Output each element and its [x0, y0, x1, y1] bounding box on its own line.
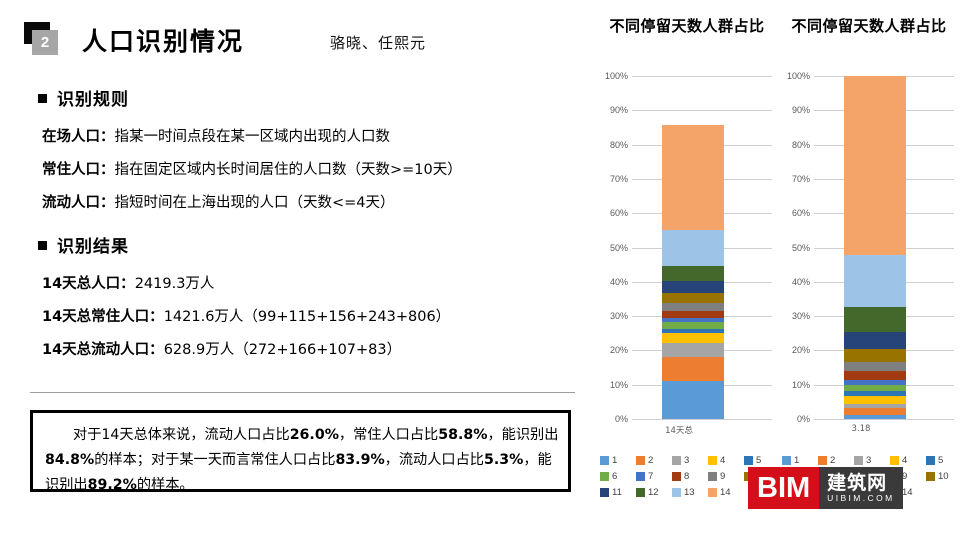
page-title: 人口识别情况 — [82, 22, 244, 58]
rule-row: 流动人口：指短时间在上海出现的人口（天数<=4天） — [42, 191, 395, 212]
result-term: 14天总常住人口： — [42, 309, 164, 325]
legend-swatch-icon — [672, 472, 681, 481]
bar-segment-9 — [662, 303, 724, 311]
bar-segment-9 — [844, 362, 906, 371]
legend-swatch-icon — [636, 488, 645, 497]
legend-label: 13 — [684, 487, 695, 498]
authors-label: 骆晓、任熙元 — [330, 32, 426, 53]
result-term: 14天总流动人口： — [42, 342, 164, 358]
y-axis-tick-label: 30% — [792, 311, 810, 321]
bar-segment-5 — [844, 391, 906, 396]
legend-item-8[interactable]: 8 — [672, 471, 704, 482]
legend-label: 14 — [720, 487, 731, 498]
legend-item-1[interactable]: 1 — [782, 455, 814, 466]
legend-item-3[interactable]: 3 — [854, 455, 886, 466]
legend-item-2[interactable]: 2 — [818, 455, 850, 466]
chart-x-axis-label: 14天总 — [634, 424, 724, 436]
legend-swatch-icon — [854, 456, 863, 465]
chart-plot-area: 0%10%20%30%40%50%60%70%80%90%100% 3.18 — [778, 76, 960, 428]
bar-segment-13 — [662, 230, 724, 266]
bar-segment-8 — [844, 371, 906, 380]
callout-part: ，能识别出 — [487, 427, 558, 443]
result-row: 14天总常住人口：1421.6万人（99+115+156+243+806） — [42, 305, 450, 326]
bar-segment-3 — [844, 404, 906, 408]
y-axis-tick-label: 90% — [792, 105, 810, 115]
legend-item-10[interactable]: 10 — [926, 471, 958, 482]
bar-segment-14 — [662, 125, 724, 230]
callout-value: 58.8% — [438, 427, 487, 443]
rule-term: 常住人口： — [42, 162, 115, 178]
y-axis-tick-label: 40% — [792, 277, 810, 287]
legend-item-11[interactable]: 11 — [600, 487, 632, 498]
bullet-square-icon — [38, 94, 47, 103]
bar-segment-7 — [844, 380, 906, 385]
y-axis-tick-label: 70% — [610, 174, 628, 184]
legend-swatch-icon — [600, 472, 609, 481]
y-axis-tick-label: 90% — [610, 105, 628, 115]
legend-label: 9 — [902, 471, 907, 482]
y-axis-tick-label: 20% — [610, 345, 628, 355]
bar-segment-3 — [662, 343, 724, 357]
callout-value: 83.9% — [335, 452, 384, 468]
rule-desc: 指某一时间点段在某一区域内出现的人口数 — [115, 129, 391, 145]
callout-part: ，流动人口占比 — [385, 452, 484, 468]
legend-swatch-icon — [600, 456, 609, 465]
result-desc: 2419.3万人 — [135, 276, 215, 292]
bar-segment-10 — [662, 293, 724, 303]
legend-item-3[interactable]: 3 — [672, 455, 704, 466]
legend-item-12[interactable]: 12 — [636, 487, 668, 498]
chart-stay-days-14day: 不同停留天数人群占比 0%10%20%30%40%50%60%70%80%90%… — [596, 8, 778, 453]
y-axis-tick-label: 0% — [797, 414, 810, 424]
rule-desc: 指在固定区域内长时间居住的人口数（天数>=10天） — [115, 162, 462, 178]
legend-label: 10 — [938, 471, 949, 482]
legend-label: 5 — [756, 455, 761, 466]
callout-part: ，常住人口占比 — [339, 427, 438, 443]
y-axis-tick-label: 20% — [792, 345, 810, 355]
legend-label: 4 — [720, 455, 725, 466]
callout-value: 89.2% — [88, 477, 137, 493]
legend-swatch-icon — [744, 456, 753, 465]
legend-row: 12345 — [782, 455, 960, 466]
rule-term: 在场人口： — [42, 129, 115, 145]
bar-segment-5 — [662, 329, 724, 333]
legend-item-4[interactable]: 4 — [708, 455, 740, 466]
bar-segment-12 — [844, 307, 906, 332]
legend-item-9[interactable]: 9 — [708, 471, 740, 482]
legend-label: 2 — [830, 455, 835, 466]
watermark-site-en: UIBIM.COM — [827, 493, 894, 504]
y-axis-tick-label: 40% — [610, 277, 628, 287]
callout-value: 5.3% — [484, 452, 523, 468]
legend-label: 3 — [684, 455, 689, 466]
horizontal-divider — [30, 392, 575, 393]
bar-segment-8 — [662, 311, 724, 318]
legend-swatch-icon — [708, 488, 717, 497]
result-row: 14天总人口：2419.3万人 — [42, 272, 214, 293]
bar-segment-7 — [662, 318, 724, 322]
legend-item-7[interactable]: 7 — [636, 471, 668, 482]
legend-label: 8 — [684, 471, 689, 482]
legend-item-5[interactable]: 5 — [744, 455, 776, 466]
result-term: 14天总人口： — [42, 276, 135, 292]
callout-value: 26.0% — [290, 427, 339, 443]
bar-segment-11 — [844, 332, 906, 349]
legend-label: 2 — [648, 455, 653, 466]
gridline — [632, 419, 772, 420]
slide-number-badge: 2 — [32, 30, 58, 55]
rule-row: 常住人口：指在固定区域内长时间居住的人口数（天数>=10天） — [42, 158, 462, 179]
legend-swatch-icon — [636, 472, 645, 481]
rule-row: 在场人口：指某一时间点段在某一区域内出现的人口数 — [42, 125, 390, 146]
y-axis-tick-label: 70% — [792, 174, 810, 184]
legend-item-4[interactable]: 4 — [890, 455, 922, 466]
legend-swatch-icon — [636, 456, 645, 465]
legend-label: 3 — [866, 455, 871, 466]
bar-segment-6 — [662, 322, 724, 329]
slide: 2 人口识别情况 骆晓、任熙元 识别规则 在场人口：指某一时间点段在某一区域内出… — [0, 0, 960, 540]
callout-part: 的样本；对于某一天而言常住人口占比 — [94, 452, 335, 468]
legend-item-5[interactable]: 5 — [926, 455, 958, 466]
summary-callout-text: 对于14天总体来说，流动人口占比26.0%，常住人口占比58.8%，能识别出84… — [45, 423, 562, 498]
legend-label: 11 — [612, 487, 622, 498]
bar-segment-1 — [662, 381, 724, 419]
callout-part: 对于14天总体来说，流动人口占比 — [73, 427, 290, 443]
legend-label: 4 — [902, 455, 907, 466]
bar-segment-6 — [844, 385, 906, 391]
stacked-bar — [844, 76, 906, 419]
bullet-square-icon — [38, 241, 47, 250]
bar-segment-14 — [844, 76, 906, 255]
legend-swatch-icon — [708, 456, 717, 465]
legend-swatch-icon — [708, 472, 717, 481]
y-axis-tick-label: 60% — [610, 208, 628, 218]
y-axis-tick-label: 100% — [787, 71, 810, 81]
y-axis-tick-label: 10% — [792, 380, 810, 390]
chart-plot-area: 0%10%20%30%40%50%60%70%80%90%100% 14天总 — [596, 76, 778, 428]
legend-label: 9 — [720, 471, 725, 482]
result-row: 14天总流动人口：628.9万人（272+166+107+83） — [42, 338, 401, 359]
bar-segment-2 — [844, 408, 906, 415]
section-heading-rules: 识别规则 — [38, 85, 129, 110]
slide-header: 2 人口识别情况 骆晓、任熙元 — [0, 0, 600, 70]
bar-segment-13 — [844, 255, 906, 307]
y-axis-tick-label: 60% — [792, 208, 810, 218]
legend-label: 12 — [648, 487, 659, 498]
y-axis-tick-label: 80% — [792, 140, 810, 150]
bar-segment-4 — [662, 333, 724, 343]
section-heading-rules-label: 识别规则 — [57, 90, 129, 110]
section-heading-results-label: 识别结果 — [57, 237, 129, 257]
chart-stay-days-318: 不同停留天数人群占比 0%10%20%30%40%50%60%70%80%90%… — [778, 8, 960, 453]
result-desc: 1421.6万人（99+115+156+243+806） — [164, 309, 451, 325]
legend-swatch-icon — [782, 456, 791, 465]
legend-item-2[interactable]: 2 — [636, 455, 668, 466]
bar-segment-12 — [662, 266, 724, 281]
y-axis-tick-label: 50% — [610, 243, 628, 253]
legend-label: 1 — [794, 455, 799, 466]
bar-segment-11 — [662, 281, 724, 293]
y-axis-tick-label: 80% — [610, 140, 628, 150]
legend-label: 1 — [612, 455, 617, 466]
chart-title: 不同停留天数人群占比 — [596, 8, 778, 37]
result-desc: 628.9万人（272+166+107+83） — [164, 342, 401, 358]
legend-row: 12345 — [600, 455, 778, 466]
legend-label: 14 — [902, 487, 913, 498]
y-axis-tick-label: 10% — [610, 380, 628, 390]
watermark-site: 建筑网 UIBIM.COM — [819, 467, 902, 509]
y-axis-tick-label: 30% — [610, 311, 628, 321]
legend-item-13[interactable]: 13 — [672, 487, 704, 498]
callout-part: 的样本。 — [137, 477, 194, 493]
y-axis-tick-label: 50% — [792, 243, 810, 253]
callout-value: 84.8% — [45, 452, 94, 468]
y-axis-tick-label: 0% — [615, 414, 628, 424]
stacked-bar — [662, 76, 724, 419]
legend-swatch-icon — [672, 456, 681, 465]
watermark: BIM 建筑网 UIBIM.COM — [748, 467, 903, 509]
legend-swatch-icon — [600, 488, 609, 497]
rule-term: 流动人口： — [42, 195, 115, 211]
rule-desc: 指短时间在上海出现的人口（天数<=4天） — [115, 195, 395, 211]
legend-label: 7 — [648, 471, 653, 482]
legend-item-14[interactable]: 14 — [708, 487, 740, 498]
legend-label: 6 — [612, 471, 617, 482]
chart-x-axis-label: 3.18 — [816, 424, 906, 434]
legend-swatch-icon — [890, 456, 899, 465]
section-heading-results: 识别结果 — [38, 232, 129, 257]
summary-callout-box: 对于14天总体来说，流动人口占比26.0%，常住人口占比58.8%，能识别出84… — [30, 410, 571, 492]
bar-segment-2 — [662, 357, 724, 381]
legend-swatch-icon — [926, 456, 935, 465]
legend-label: 5 — [938, 455, 943, 466]
gridline — [814, 419, 954, 420]
legend-item-1[interactable]: 1 — [600, 455, 632, 466]
legend-item-6[interactable]: 6 — [600, 471, 632, 482]
bar-segment-4 — [844, 396, 906, 404]
bar-segment-1 — [844, 415, 906, 419]
bar-segment-10 — [844, 349, 906, 362]
y-axis-tick-label: 100% — [605, 71, 628, 81]
watermark-brand: BIM — [748, 467, 819, 509]
chart-title: 不同停留天数人群占比 — [778, 8, 960, 37]
legend-swatch-icon — [818, 456, 827, 465]
legend-swatch-icon — [926, 472, 935, 481]
legend-swatch-icon — [672, 488, 681, 497]
watermark-site-cn: 建筑网 — [827, 473, 894, 493]
